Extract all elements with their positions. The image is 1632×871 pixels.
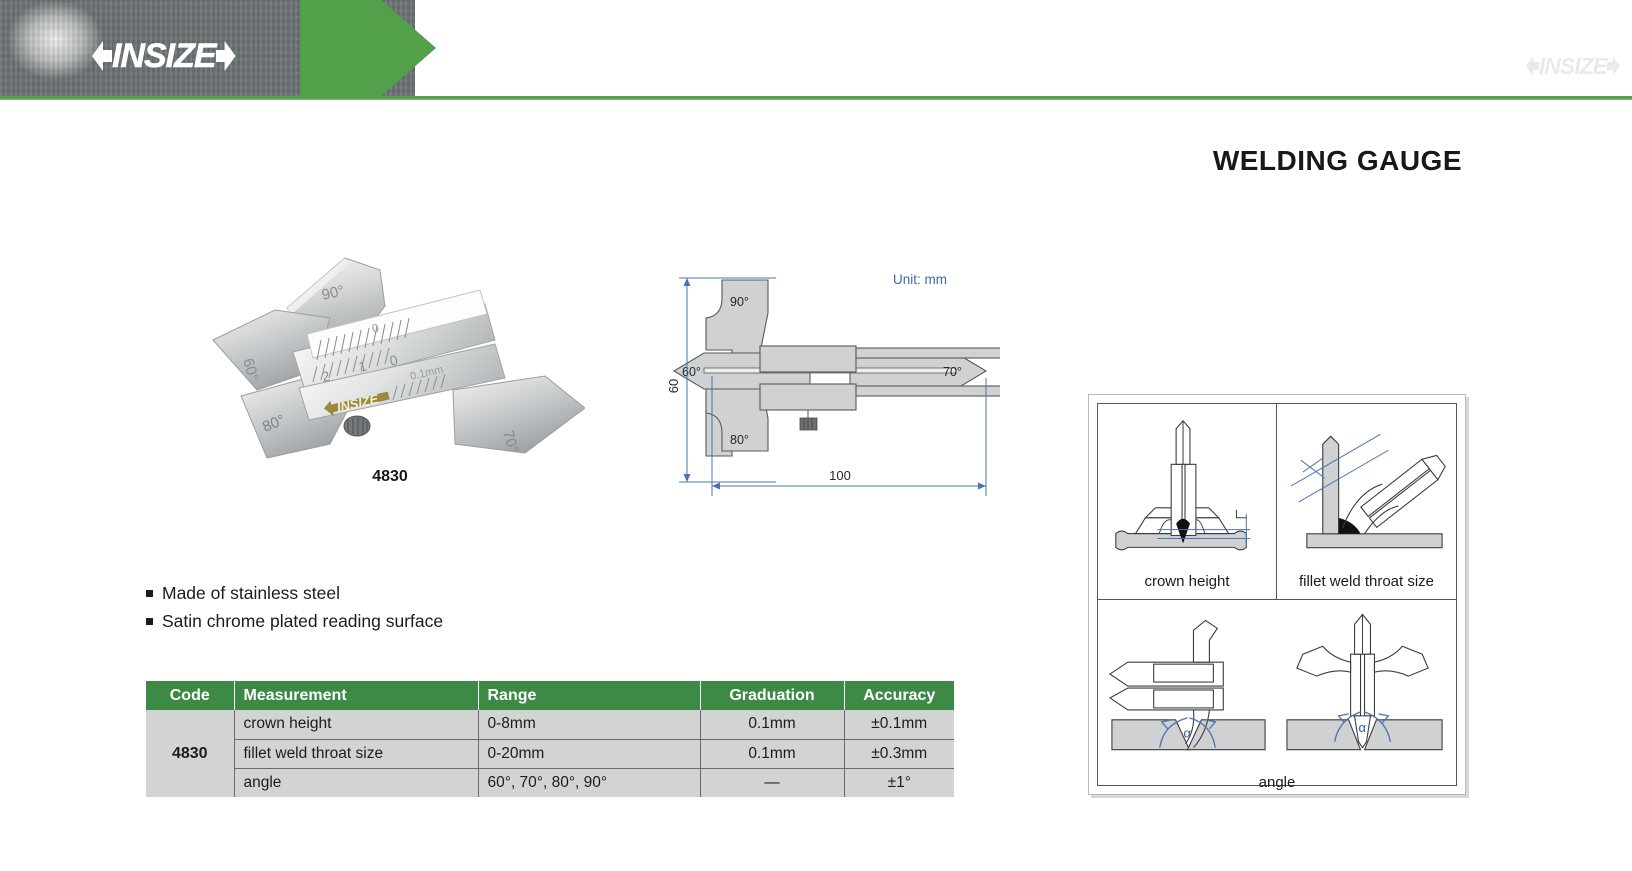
cell-graduation: — [700, 768, 844, 797]
cell-accuracy: ±0.3mm [844, 739, 954, 768]
features-list: Made of stainless steel Satin chrome pla… [146, 582, 443, 638]
angle-diagrams: α [1098, 600, 1456, 774]
application-label-fillet-weld: fillet weld throat size [1277, 573, 1456, 599]
svg-text:70°: 70° [943, 365, 962, 379]
feature-label: Made of stainless steel [162, 582, 340, 605]
watermark-text: INSIZE [1539, 56, 1607, 76]
column-header-range: Range [478, 681, 700, 710]
crown-height-diagram [1098, 404, 1276, 573]
logo-text: INSIZE [112, 41, 216, 71]
svg-text:100: 100 [829, 468, 851, 483]
table-row: fillet weld throat size 0-20mm 0.1mm ±0.… [146, 739, 954, 768]
svg-text:60°: 60° [682, 365, 701, 379]
list-item: Satin chrome plated reading surface [146, 610, 443, 633]
application-diagrams-box: crown height [1088, 394, 1466, 795]
svg-text:90°: 90° [730, 295, 749, 309]
cell-code: 4830 [146, 710, 234, 797]
application-row-top: crown height [1098, 404, 1456, 600]
product-photo-caption: 4830 [195, 468, 585, 486]
angle-diagram-internal: α [1277, 600, 1456, 774]
cell-range: 60°, 70°, 80°, 90° [478, 768, 700, 797]
cell-measurement: fillet weld throat size [234, 739, 478, 768]
cell-measurement: angle [234, 768, 478, 797]
column-header-code: Code [146, 681, 234, 710]
cell-measurement: crown height [234, 710, 478, 739]
table-row: angle 60°, 70°, 80°, 90° — ±1° [146, 768, 954, 797]
feature-label: Satin chrome plated reading surface [162, 610, 443, 633]
cell-graduation: 0.1mm [700, 710, 844, 739]
cell-accuracy: ±0.1mm [844, 710, 954, 739]
application-row-bottom: α [1098, 600, 1456, 800]
application-cell-fillet-weld: fillet weld throat size [1277, 404, 1456, 599]
fillet-weld-throat-diagram [1277, 404, 1456, 573]
technical-drawing: 90° 60° 80° 70° 60 100 [660, 258, 1000, 503]
cell-range: 0-8mm [478, 710, 700, 739]
page-header: INSIZE INSIZE [0, 0, 1632, 100]
bullet-square-icon [146, 618, 153, 625]
application-cell-crown-height: crown height [1098, 404, 1277, 599]
watermark-right-arrow-icon [1607, 56, 1620, 76]
insize-logo[interactable]: INSIZE [92, 36, 236, 76]
angle-symbol-left: α [1184, 726, 1192, 741]
logo-right-arrow-icon [216, 41, 236, 71]
logo-left-arrow-icon [92, 41, 112, 71]
column-header-graduation: Graduation [700, 681, 844, 710]
column-header-accuracy: Accuracy [844, 681, 954, 710]
specification-table: Code Measurement Range Graduation Accura… [146, 681, 954, 797]
cell-graduation: 0.1mm [700, 739, 844, 768]
product-photo: 90° 60° 80° 70° [195, 248, 585, 466]
cell-accuracy: ±1° [844, 768, 954, 797]
svg-text:60: 60 [666, 379, 681, 393]
application-label-angle: angle [1098, 774, 1456, 800]
table-row: 4830 crown height 0-8mm 0.1mm ±0.1mm [146, 710, 954, 739]
application-label-crown-height: crown height [1098, 573, 1276, 599]
angle-diagram-external: α [1098, 600, 1277, 774]
header-white-area [415, 0, 1632, 96]
bullet-square-icon [146, 590, 153, 597]
list-item: Made of stainless steel [146, 582, 443, 605]
table-header-row: Code Measurement Range Graduation Accura… [146, 681, 954, 710]
page-title: WELDING GAUGE [1213, 145, 1462, 177]
header-green-rule [0, 96, 1632, 100]
angle-symbol-right: α [1359, 720, 1367, 735]
svg-text:80°: 80° [730, 433, 749, 447]
insize-watermark-logo: INSIZE [1526, 52, 1620, 80]
cell-range: 0-20mm [478, 739, 700, 768]
application-grid: crown height [1097, 403, 1457, 786]
watermark-left-arrow-icon [1526, 56, 1539, 76]
column-header-measurement: Measurement [234, 681, 478, 710]
